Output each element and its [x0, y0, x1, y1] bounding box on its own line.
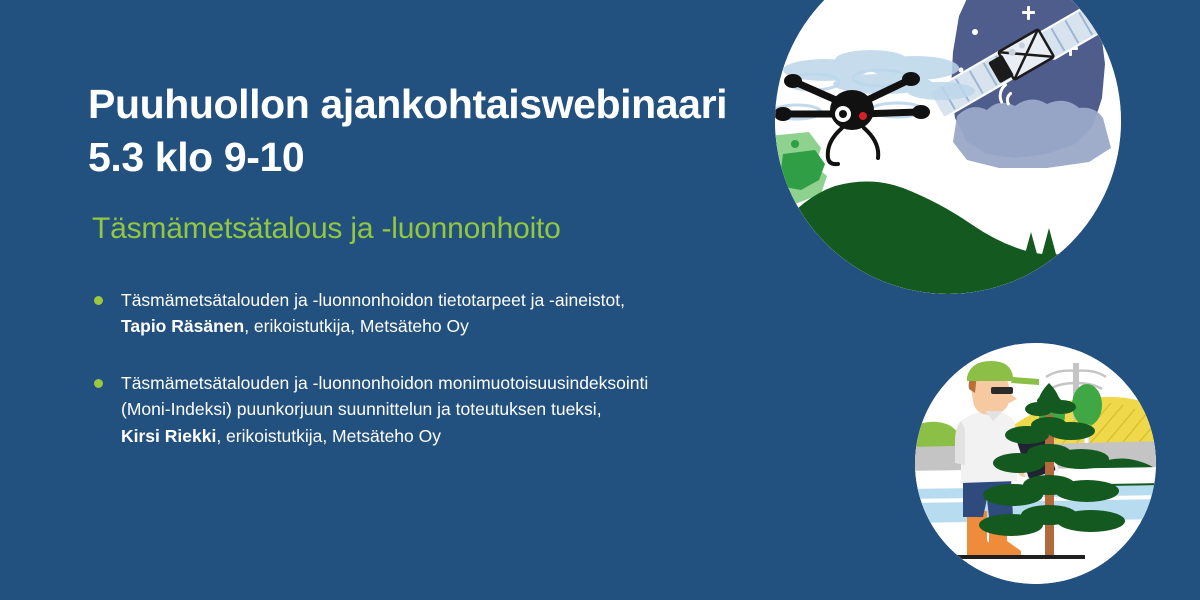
slide-subtitle: Täsmämetsätalous ja -luonnonhoito [92, 211, 768, 247]
bullet-dot-icon [94, 379, 103, 388]
webinar-slide: Puuhuollon ajankohtaiswebinaari 5.3 klo … [0, 0, 1200, 600]
ground-line [955, 555, 1085, 559]
list-item: Täsmämetsätalouden ja -luonnonhoidon mon… [88, 370, 768, 450]
speaker-role: , erikoistutkija, Metsäteho Oy [216, 426, 441, 446]
speaker-role: , erikoistutkija, Metsäteho Oy [244, 316, 469, 336]
list-item: Täsmämetsätalouden ja -luonnonhoidon tie… [88, 287, 768, 340]
bullet-speaker-line: Kirsi Riekki, erikoistutkija, Metsäteho … [121, 423, 768, 450]
bullet-dot-icon [94, 296, 103, 305]
bullet-text-line: Täsmämetsätalouden ja -luonnonhoidon mon… [121, 370, 768, 397]
bullet-speaker-line: Tapio Räsänen, erikoistutkija, Metsäteho… [121, 313, 768, 340]
speaker-name: Tapio Räsänen [121, 316, 244, 336]
agenda-list: Täsmämetsätalouden ja -luonnonhoidon tie… [88, 287, 768, 450]
page-title: Puuhuollon ajankohtaiswebinaari 5.3 klo … [88, 78, 768, 185]
bullet-text-line: (Moni-Indeksi) puunkorjuun suunnittelun … [121, 396, 768, 423]
text-column: Puuhuollon ajankohtaiswebinaari 5.3 klo … [88, 78, 768, 450]
sunglasses [991, 387, 1013, 394]
speaker-name: Kirsi Riekki [121, 426, 216, 446]
forester-with-tablet-illustration [915, 343, 1156, 584]
bullet-text-line: Täsmämetsätalouden ja -luonnonhoidon tie… [121, 287, 768, 314]
drone-and-satellite-illustration [775, 0, 1121, 294]
